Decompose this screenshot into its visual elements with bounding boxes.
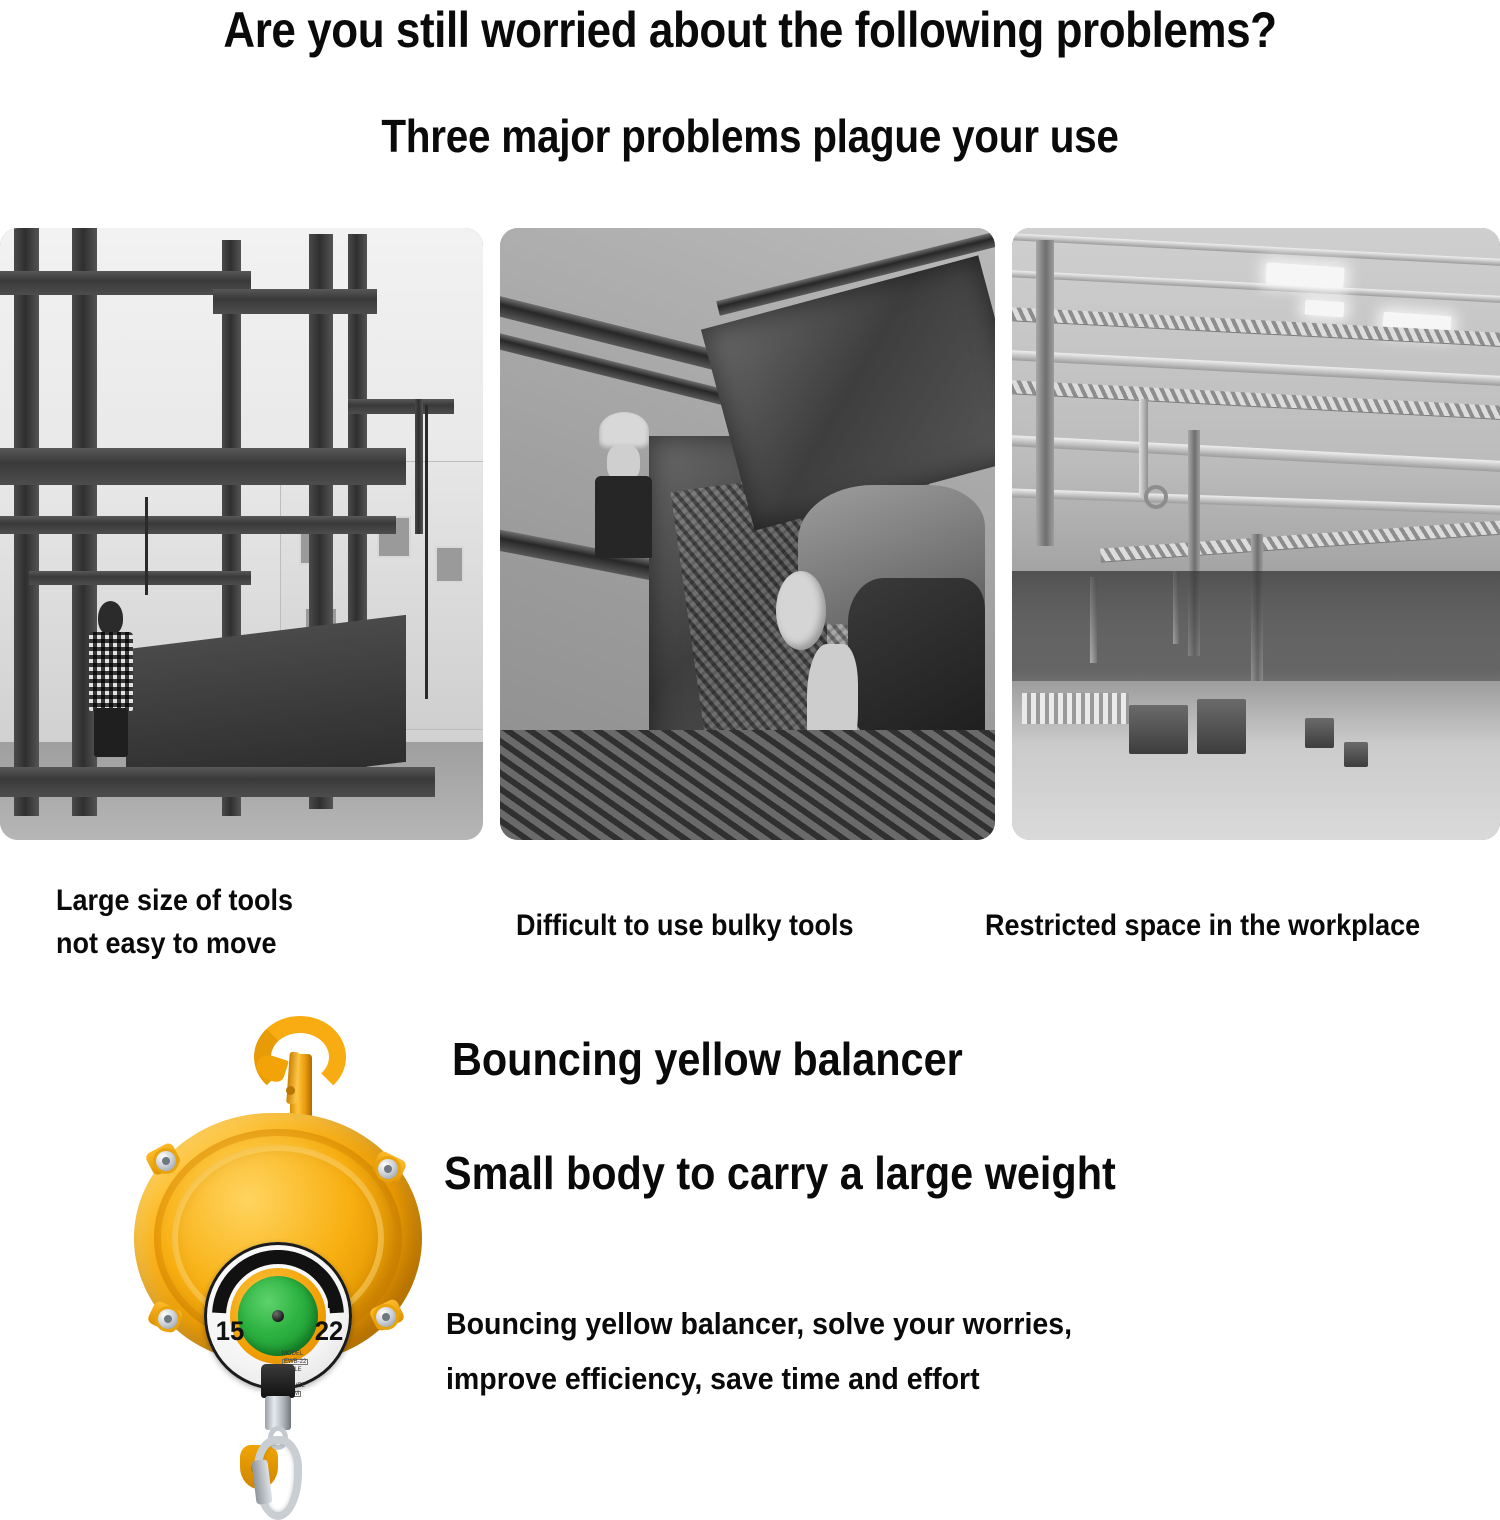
support-column [1036,240,1054,546]
product-description: Bouncing yellow balancer, solve your wor… [446,1296,1320,1406]
worker-head [98,601,123,635]
caption-1-line-1: Large size of tools [56,880,293,923]
cable-ferrule [265,1396,291,1430]
rubble-ground [500,730,995,840]
worker-standing [594,412,653,559]
problem-photo-2 [500,228,995,840]
housing-bolt [158,1309,178,1329]
machine-unit [1197,699,1246,754]
lift-cross-beam [0,516,396,534]
problem-caption-3: Restricted space in the workplace [985,905,1420,948]
worker-figure [87,601,135,754]
safety-railing [1022,693,1129,724]
building-window [435,546,464,583]
balancer-housing: 15 kg 22 MODEL EWB-22 CABLE φ4 TRAVEL 1.… [128,1107,428,1372]
worker-shirt [595,476,652,558]
power-cable [425,405,428,699]
spring-balancer-product-image: 15 kg 22 MODEL EWB-22 CABLE φ4 TRAVEL 1.… [128,1012,428,1469]
photo-1-scene [0,228,483,840]
hoist-body [1139,399,1148,497]
machine-unit [1344,742,1368,766]
product-description-line-1: Bouncing yellow balancer, solve your wor… [446,1296,1320,1351]
photo-2-scene [500,228,995,840]
page-headline-secondary: Three major problems plague your use [90,112,1410,160]
problem-photo-strip [0,228,1500,840]
page-headline-primary: Are you still worried about the followin… [90,4,1410,57]
product-description-line-2: improve efficiency, save time and effort [446,1351,1320,1406]
worker-legs [94,708,129,757]
housing-bolt [156,1151,176,1171]
product-title-secondary: Small body to carry a large weight [444,1148,1116,1199]
lift-deck-beam [0,448,406,485]
worker-plaid-shirt [89,632,133,712]
problem-photo-3 [1012,228,1500,840]
photo-3-scene [1012,228,1500,840]
housing-bolt [376,1307,396,1327]
machine-unit [1129,705,1188,754]
spec-model-label: MODEL [282,1350,308,1358]
problem-photo-1 [0,228,483,840]
capacity-min-value: 15 [216,1318,245,1345]
crane-hook-ring [1144,485,1168,509]
lift-chain [145,497,148,595]
capacity-max-value: 22 [315,1318,344,1345]
caption-1-line-2: not easy to move [56,923,293,966]
worker-jeans [848,578,985,750]
machine-unit [1305,718,1334,749]
lift-cross-beam [213,289,377,313]
dial-green-cap [238,1276,318,1356]
problem-caption-1: Large size of tools not easy to move [56,880,293,965]
housing-bolt [378,1159,398,1179]
worker-head [776,571,826,650]
capacity-unit-label: kg [327,1300,340,1311]
cable-exit-boot [261,1364,295,1398]
hook-pivot-pin [286,1086,295,1095]
problem-caption-2: Difficult to use bulky tools [516,905,854,948]
handrail-post [415,399,423,534]
lift-cross-beam [29,571,251,586]
product-title-primary: Bouncing yellow balancer [452,1034,963,1085]
shadow-band [1012,571,1500,681]
handrail [348,399,454,414]
lift-base-beam [0,767,435,798]
